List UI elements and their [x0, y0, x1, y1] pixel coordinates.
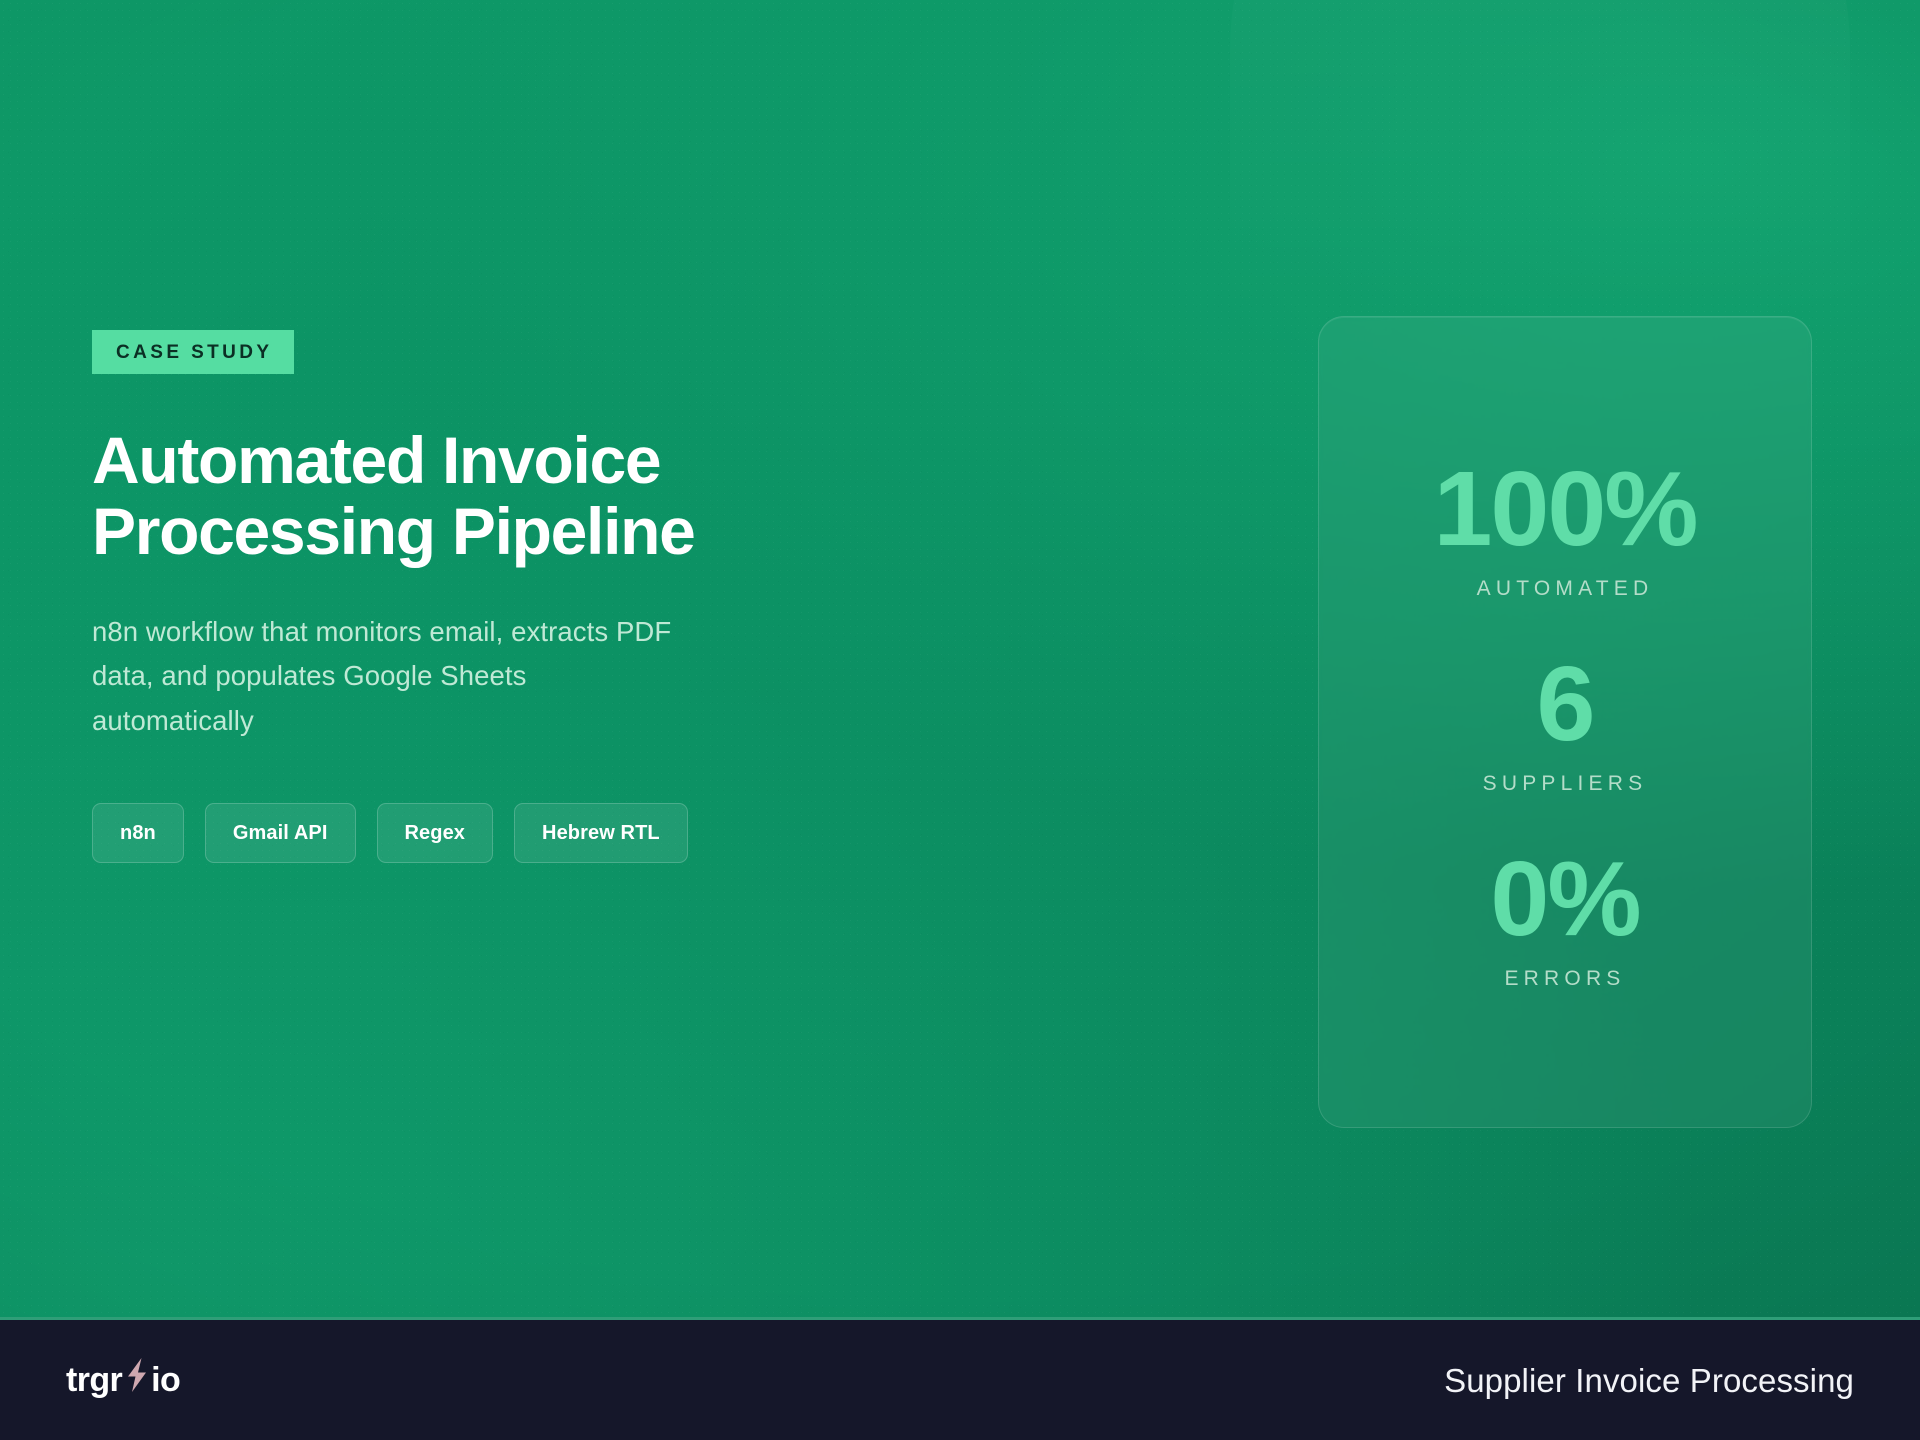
footer-project-title: Supplier Invoice Processing — [1444, 1364, 1854, 1397]
stat-item-errors: 0% ERRORS — [1319, 846, 1811, 989]
stats-card: 100% AUTOMATED 6 SUPPLIERS 0% ERRORS — [1318, 316, 1812, 1128]
stat-value: 0% — [1490, 846, 1639, 952]
stat-label: ERRORS — [1504, 968, 1625, 989]
stat-item-automated: 100% AUTOMATED — [1319, 456, 1811, 599]
footer-bar: trgr io Supplier Invoice Processing — [0, 1320, 1920, 1440]
hero-content: CASE STUDY Automated Invoice Processing … — [92, 330, 792, 863]
tag-list: n8n Gmail API Regex Hebrew RTL — [92, 803, 792, 863]
tag-chip[interactable]: Gmail API — [205, 803, 356, 863]
page-subtitle: n8n workflow that monitors email, extrac… — [92, 610, 688, 744]
case-study-slide: CASE STUDY Automated Invoice Processing … — [0, 0, 1920, 1440]
stat-value: 6 — [1537, 651, 1594, 757]
page-title: Automated Invoice Processing Pipeline — [92, 425, 732, 568]
logo-text-suffix: io — [151, 1363, 180, 1397]
tag-chip[interactable]: Hebrew RTL — [514, 803, 688, 863]
tag-chip[interactable]: n8n — [92, 803, 184, 863]
stat-label: AUTOMATED — [1477, 578, 1654, 599]
stat-label: SUPPLIERS — [1483, 773, 1648, 794]
stat-item-suppliers: 6 SUPPLIERS — [1319, 651, 1811, 794]
tag-chip[interactable]: Regex — [377, 803, 494, 863]
brand-logo[interactable]: trgr io — [66, 1360, 180, 1400]
case-study-badge: CASE STUDY — [92, 330, 294, 374]
logo-text-prefix: trgr — [66, 1363, 122, 1397]
lightning-bolt-icon — [124, 1358, 150, 1398]
stat-value: 100% — [1433, 456, 1696, 562]
